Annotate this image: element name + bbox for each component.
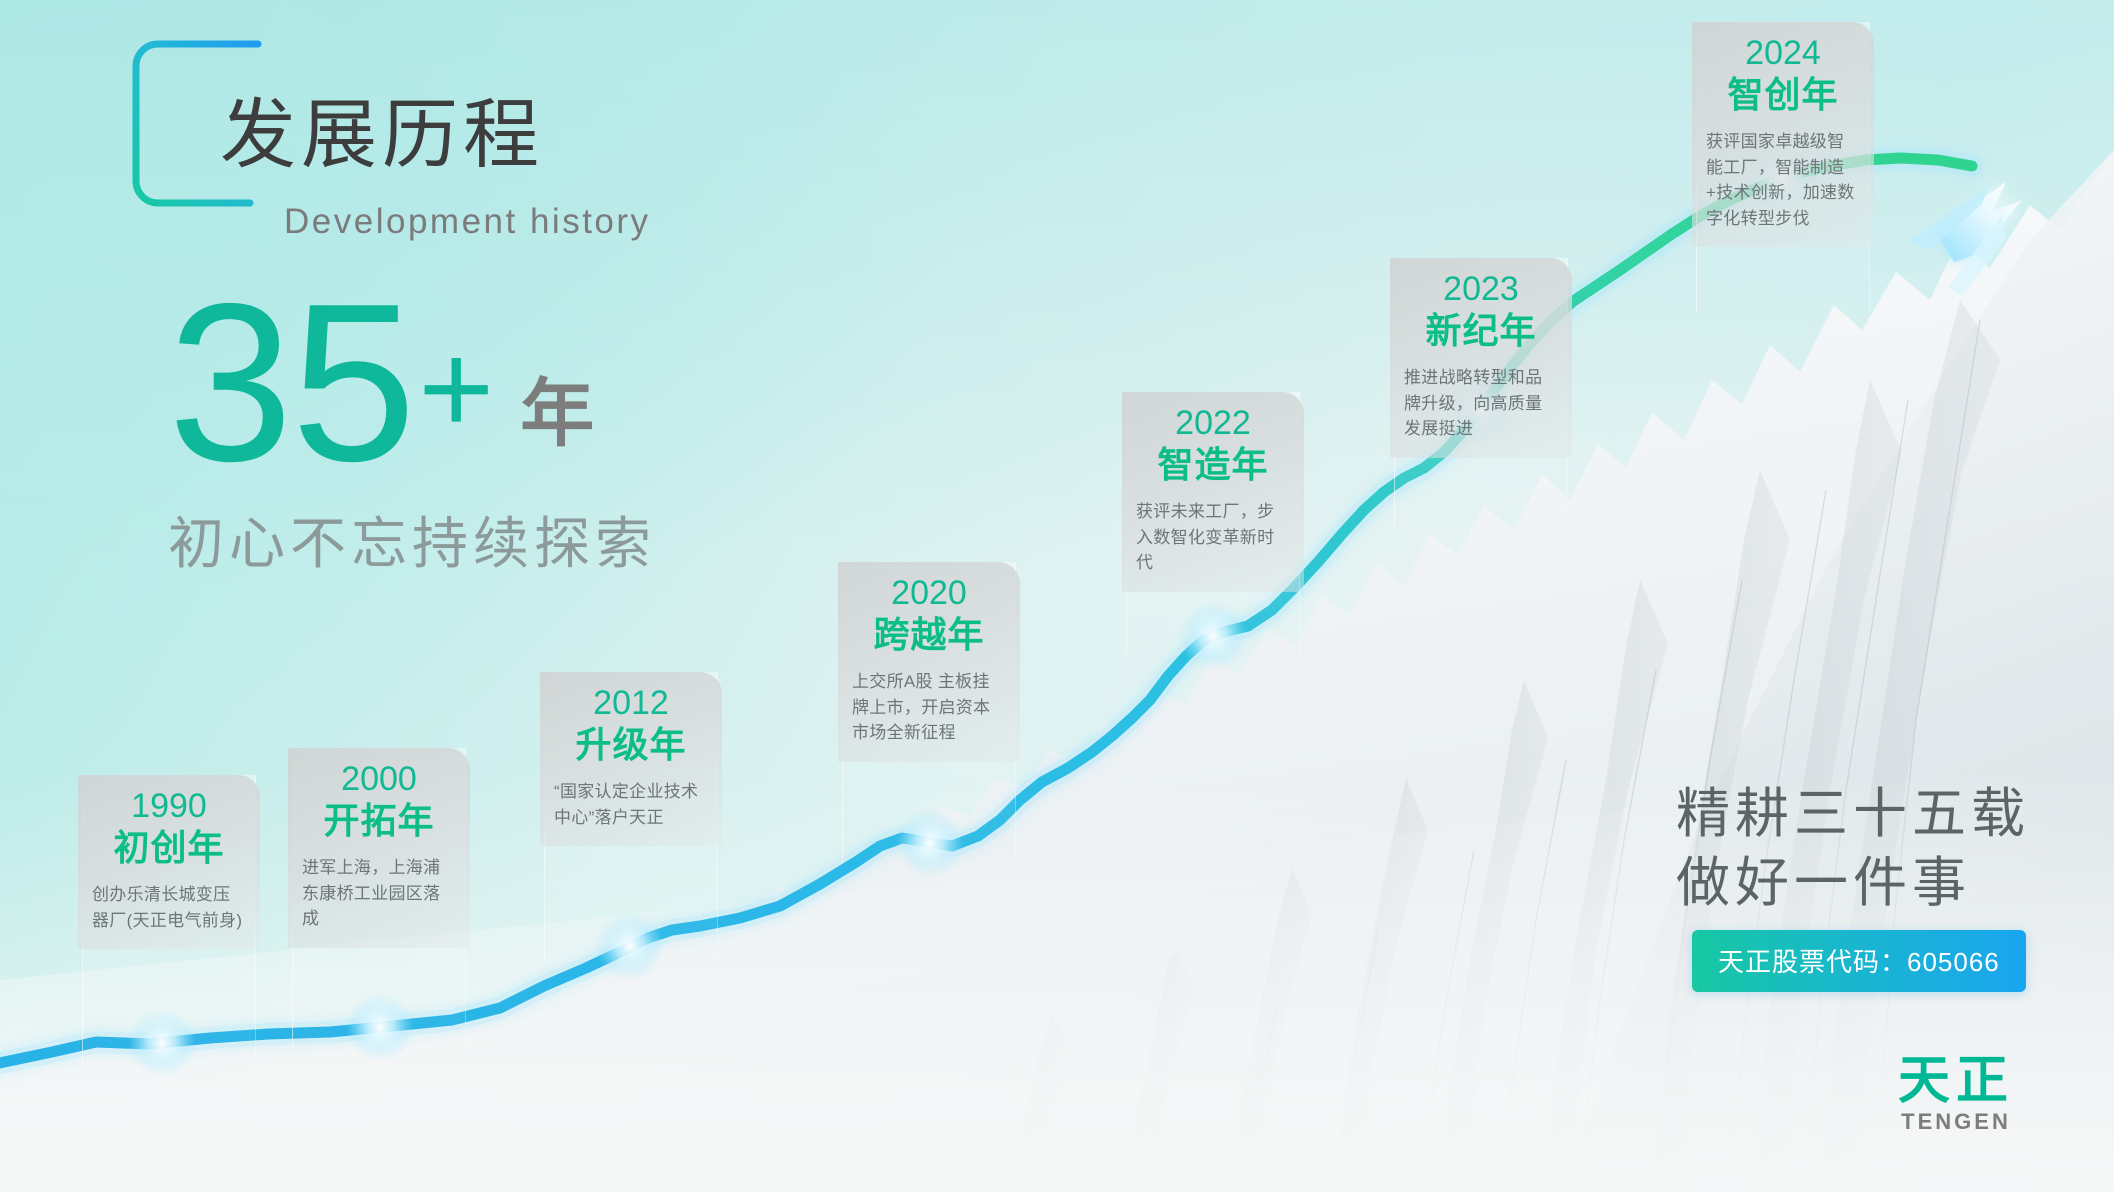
milestone-desc: 上交所A股 主板挂牌上市，开启资本市场全新征程 [846,669,1012,746]
milestone-desc: 获评未来工厂，步入数智化变革新时代 [1130,499,1296,576]
milestone-year: 1990 [86,789,252,825]
page-subtitle-en: Development history [284,202,651,242]
milestone-panel: 1990 初创年 创办乐清长城变压器厂(天正电气前身) [78,775,260,949]
milestone-card-2012[interactable]: 2012 升级年 “国家认定企业技术中心”落户天正 [540,672,722,846]
years-plus: + [418,323,494,453]
milestone-name: 初创年 [86,827,252,868]
milestone-desc: 进军上海，上海浦东康桥工业园区落成 [296,855,462,932]
milestone-panel: 2012 升级年 “国家认定企业技术中心”落户天正 [540,672,722,846]
milestone-name: 升级年 [548,724,714,765]
milestone-panel: 2023 新纪年 推进战略转型和品牌升级，向高质量发展挺进 [1390,258,1572,458]
tagline: 精耕三十五载 做好一件事 [1676,780,2030,918]
milestone-name: 智造年 [1130,444,1296,485]
milestone-desc: 推进战略转型和品牌升级，向高质量发展挺进 [1398,365,1564,442]
milestone-card-2024[interactable]: 2024 智创年 获评国家卓越级智能工厂，智能制造+技术创新，加速数字化转型步伐 [1692,22,1874,247]
milestone-year: 2023 [1398,272,1564,308]
years-number: 35 [168,290,414,475]
milestone-name: 跨越年 [846,614,1012,655]
milestone-year: 2022 [1130,406,1296,442]
milestone-panel: 2024 智创年 获评国家卓越级智能工厂，智能制造+技术创新，加速数字化转型步伐 [1692,22,1874,247]
milestone-card-2020[interactable]: 2020 跨越年 上交所A股 主板挂牌上市，开启资本市场全新征程 [838,562,1020,762]
milestone-desc: “国家认定企业技术中心”落户天正 [548,779,714,830]
milestone-card-2022[interactable]: 2022 智造年 获评未来工厂，步入数智化变革新时代 [1122,392,1304,592]
milestone-year: 2024 [1700,36,1866,72]
tagline-line-2: 做好一件事 [1676,849,2030,918]
years-stat-subtitle: 初心不忘持续探索 [168,499,656,580]
page-title: 发展历程 [220,98,544,174]
milestone-panel: 2020 跨越年 上交所A股 主板挂牌上市，开启资本市场全新征程 [838,562,1020,762]
milestone-card-2023[interactable]: 2023 新纪年 推进战略转型和品牌升级，向高质量发展挺进 [1390,258,1572,458]
milestone-desc: 创办乐清长城变压器厂(天正电气前身) [86,882,252,933]
milestone-name: 开拓年 [296,800,462,841]
milestone-card-2000[interactable]: 2000 开拓年 进军上海，上海浦东康桥工业园区落成 [288,748,470,948]
milestone-year: 2020 [846,576,1012,612]
milestone-name: 智创年 [1700,74,1866,115]
years-stat: 35 + 年 初心不忘持续探索 [168,290,656,580]
years-unit: 年 [520,377,594,451]
tagline-line-1: 精耕三十五载 [1676,780,2030,849]
milestone-panel: 2022 智造年 获评未来工厂，步入数智化变革新时代 [1122,392,1304,592]
years-stat-row: 35 + 年 [168,290,656,475]
stock-code-badge: 天正股票代码：605066 [1692,930,2026,992]
milestone-card-1990[interactable]: 1990 初创年 创办乐清长城变压器厂(天正电气前身) [78,775,260,949]
milestone-desc: 获评国家卓越级智能工厂，智能制造+技术创新，加速数字化转型步伐 [1700,129,1866,231]
logo-zh: 天正 [1898,1055,2014,1107]
milestone-name: 新纪年 [1398,310,1564,351]
poster-canvas: 发展历程 Development history 35 + 年 初心不忘持续探索… [0,0,2114,1192]
milestone-year: 2012 [548,686,714,722]
milestone-panel: 2000 开拓年 进军上海，上海浦东康桥工业园区落成 [288,748,470,948]
brand-logo: 天正 TENGEN [1898,1055,2014,1133]
logo-en: TENGEN [1898,1111,2014,1133]
milestone-year: 2000 [296,762,462,798]
